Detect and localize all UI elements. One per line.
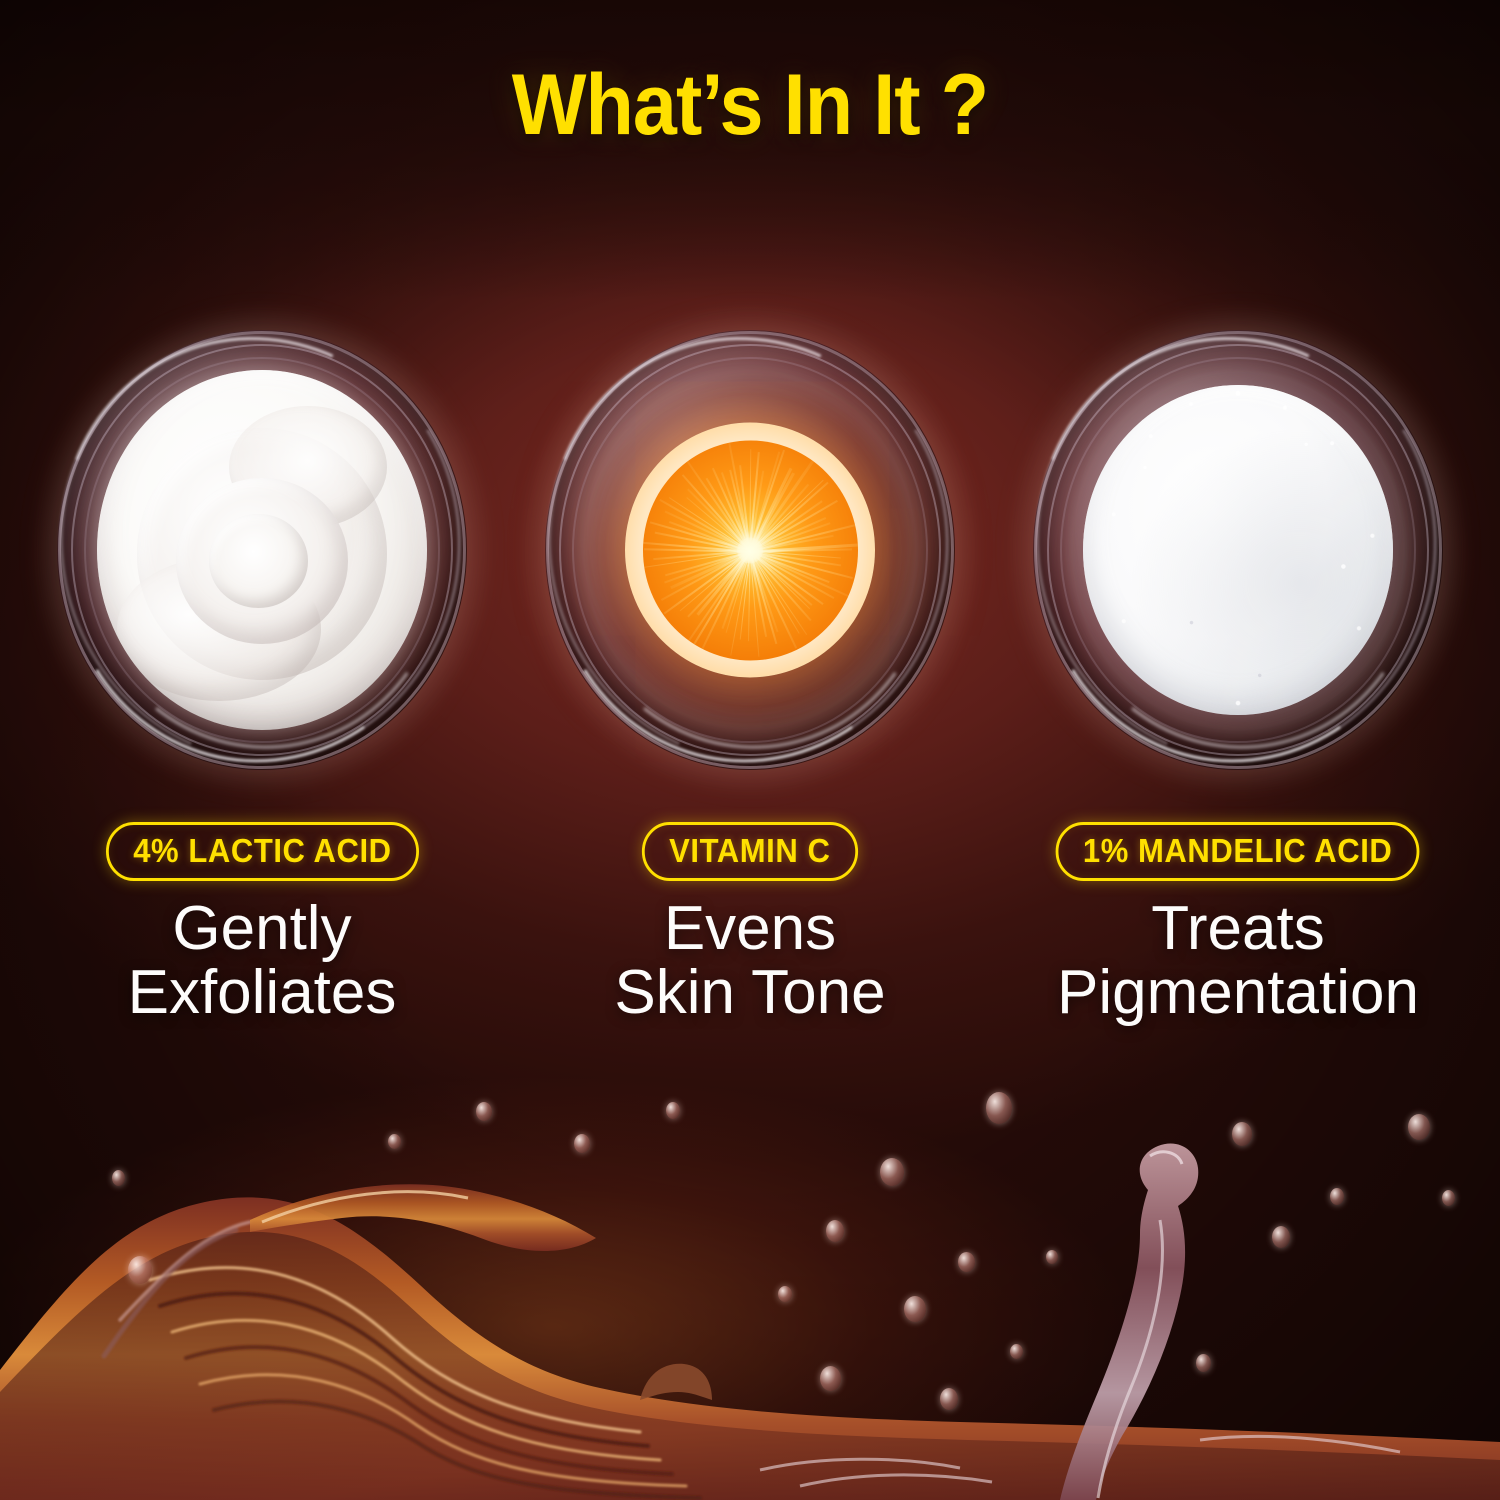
splash-peak bbox=[640, 1364, 712, 1400]
caption-lactic-acid: Gently Exfoliates bbox=[52, 897, 472, 1025]
powder-texture-icon bbox=[1083, 385, 1393, 715]
ingredient-column-vitamin-c: VITAMIN C Evens Skin Tone bbox=[540, 822, 960, 1082]
splash-body-shadow bbox=[0, 1232, 1500, 1500]
ingredient-bowl-vitamin-c bbox=[540, 325, 960, 775]
water-splash-decoration bbox=[0, 1070, 1500, 1500]
page-title-wrap: What’s In It ? bbox=[0, 62, 1500, 148]
ingredient-bowls-row bbox=[0, 300, 1500, 800]
badge-vitamin-c: VITAMIN C bbox=[642, 822, 858, 881]
caption-vitamin-c: Evens Skin Tone bbox=[540, 897, 960, 1025]
water-splash-icon bbox=[0, 1070, 1500, 1500]
badge-lactic-acid: 4% LACTIC ACID bbox=[106, 822, 419, 881]
badge-mandelic-acid: 1% MANDELIC ACID bbox=[1056, 822, 1420, 881]
ingredient-bowl-mandelic-acid bbox=[1028, 325, 1448, 775]
cream-texture-icon bbox=[97, 370, 427, 730]
ingredient-info-row: 4% LACTIC ACID Gently Exfoliates VITAMIN… bbox=[0, 822, 1500, 1082]
ingredient-column-lactic-acid: 4% LACTIC ACID Gently Exfoliates bbox=[52, 822, 472, 1082]
ingredient-column-mandelic-acid: 1% MANDELIC ACID Treats Pigmentation bbox=[1028, 822, 1448, 1082]
orange-slice-icon bbox=[625, 423, 875, 678]
caption-mandelic-acid: Treats Pigmentation bbox=[1028, 897, 1448, 1025]
page-title: What’s In It ? bbox=[512, 62, 988, 148]
ingredient-bowl-lactic-acid bbox=[52, 325, 472, 775]
